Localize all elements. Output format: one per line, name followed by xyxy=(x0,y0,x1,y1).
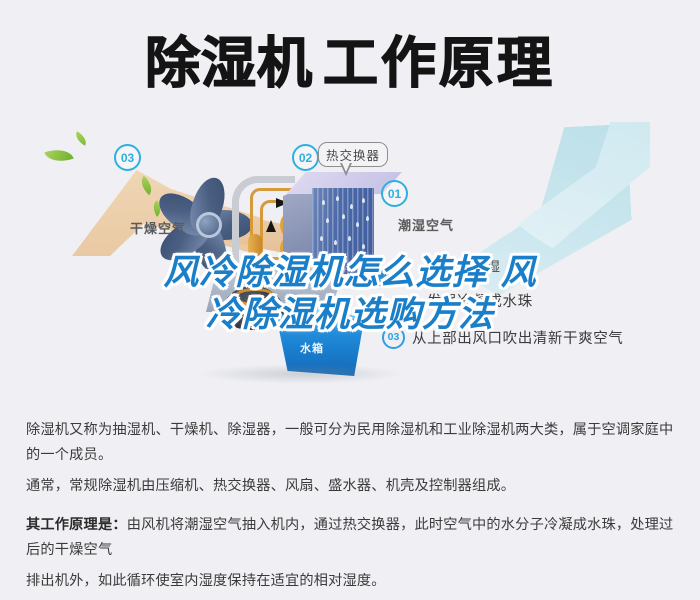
page-title-segment-2: 工作原理 xyxy=(323,31,555,95)
condensation-droplets-icon xyxy=(316,192,372,272)
machine-shadow xyxy=(196,364,406,384)
dry-air-label: 干燥空气 xyxy=(130,218,186,237)
body-paragraph-1: 除湿机又称为抽湿机、干燥机、除湿器，一般可分为民用除湿机和工业除湿机两大类，属于… xyxy=(26,418,678,468)
page-title-segment-1: 除湿机 xyxy=(145,31,313,95)
water-tank-label: 水箱 xyxy=(300,340,324,356)
compressor-icon xyxy=(222,286,284,330)
article-body: 除湿机又称为抽湿机、干燥机、除湿器，一般可分为民用除湿机和工业除湿机两大类，属于… xyxy=(26,418,678,600)
leaf-icon xyxy=(44,144,73,166)
diagram-badge-01: 01 xyxy=(381,180,408,207)
moist-air-label: 潮湿空气 xyxy=(398,215,454,234)
page-title: 除湿机工作原理 xyxy=(0,24,700,102)
body-paragraph-1b: 通常，常规除湿机由压缩机、热交换器、风扇、盛水器、机壳及控制器组成。 xyxy=(26,474,678,499)
step-text-partial: 潮湿 xyxy=(474,256,500,275)
step-caption-list: 01 潮湿 发器冷凝成水珠 03 从上部出风口吹出清新干爽空气 xyxy=(382,252,700,363)
step-row: 发器冷凝成水珠 xyxy=(427,289,700,311)
step-row: 03 从上部出风口吹出清新干爽空气 xyxy=(382,326,700,348)
diagram-badge-02: 02 xyxy=(292,144,319,171)
heat-exchanger-callout: 热交换器 xyxy=(318,142,388,167)
leaf-icon xyxy=(73,131,90,146)
heat-exchanger-side-icon xyxy=(283,184,313,276)
callout-tail-icon xyxy=(340,163,352,176)
step-text: 发器冷凝成水珠 xyxy=(427,290,533,311)
body-paragraph-2: 其工作原理是：由风机将潮湿空气抽入机内，通过热交换器，此时空气中的水分子冷凝成水… xyxy=(26,513,678,563)
step-number: 03 xyxy=(382,326,405,349)
body-paragraph-2b: 排出机外，如此循环使室内湿度保持在适宜的相对湿度。 xyxy=(26,569,678,594)
step-text: 从上部出风口吹出清新干爽空气 xyxy=(412,327,623,348)
body-paragraph-2-label: 其工作原理是： xyxy=(26,517,127,533)
diagram-badge-03: 03 xyxy=(114,144,141,171)
page-root: 除湿机工作原理 xyxy=(0,0,700,566)
